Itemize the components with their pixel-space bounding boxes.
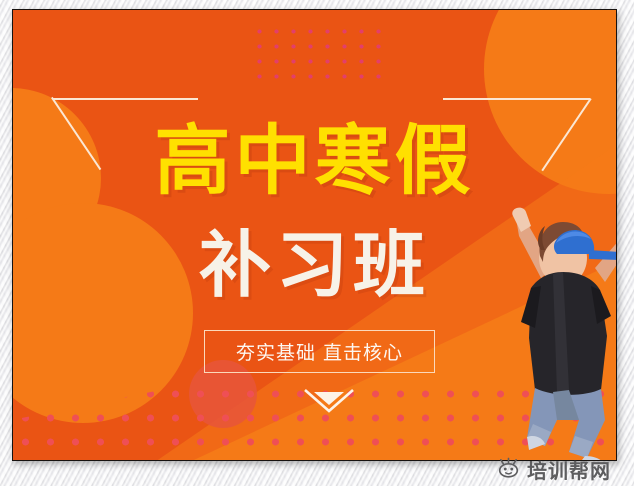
chevron-down-icon: [303, 388, 355, 414]
poster-canvas: 高中寒假 补习班 夯实基础 直击核心: [13, 10, 616, 460]
watermark-text: 培训帮网: [527, 455, 611, 484]
dot-pattern-top: [251, 24, 391, 86]
watermark: 培训帮网: [497, 455, 611, 484]
promo-poster: 高中寒假 补习班 夯实基础 直击核心: [12, 9, 617, 461]
poster-title-main: 高中寒假: [13, 123, 616, 199]
smiling-face-logo-icon: [497, 457, 520, 483]
tagline-box: 夯实基础 直击核心: [204, 330, 435, 373]
image-canvas: 高中寒假 补习班 夯实基础 直击核心: [0, 0, 634, 486]
tagline-text: 夯实基础 直击核心: [236, 338, 403, 365]
bracket-right-bar: [443, 98, 590, 100]
poster-title-sub: 补习班: [13, 229, 616, 301]
bracket-left-bar: [53, 98, 198, 100]
